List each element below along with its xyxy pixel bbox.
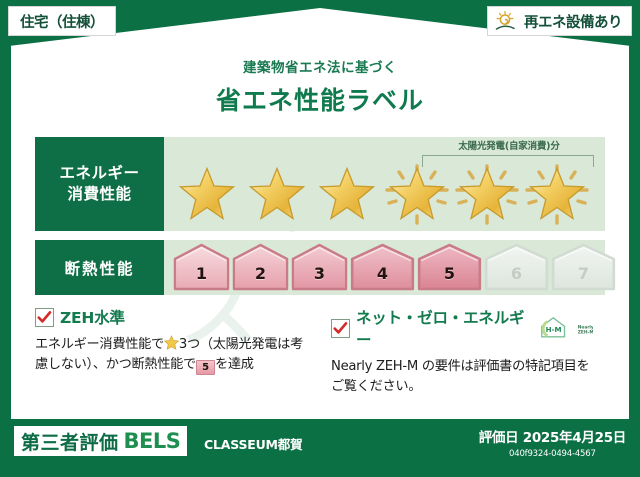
energy-performance-row: エネルギー 消費性能 太陽光発電(自家消費)分 (35, 137, 605, 231)
energy-performance-label: ハウス 住宅（住棟） 再エネ設備あり 建築物省エネ法に基づく 省エ (0, 0, 640, 477)
checkbox-checked-icon (331, 319, 350, 338)
building-type-label: 住宅（住棟） (20, 11, 104, 32)
grade-number: 7 (578, 264, 589, 291)
solar-contribution-caption: 太陽光発電(自家消費)分 (416, 138, 602, 152)
note-zeh-standard: ZEH水準 エネルギー消費性能で3つ（太陽光発電は考慮しない）、かつ断熱性能で5… (35, 306, 321, 406)
inline-grade-badge: 5 (196, 360, 215, 375)
evaluation-info: 評価日 2025年4月25日 040f9324-0494-4567 (479, 426, 626, 459)
note-zeh-text-3: を達成 (215, 357, 254, 372)
star-2 (242, 163, 312, 227)
building-type-chip: 住宅（住棟） (8, 6, 116, 36)
label-titles: 建築物省エネ法に基づく 省エネ性能ラベル (0, 56, 640, 117)
star-icon (178, 166, 236, 224)
energy-header-line1: エネルギー (59, 163, 139, 184)
star-icon (528, 166, 586, 224)
building-name: CLASSEUM都賀 (204, 434, 302, 453)
grade-number: 4 (377, 264, 388, 291)
insulation-header-label: 断熱性能 (64, 257, 134, 279)
energy-performance-header: エネルギー 消費性能 (35, 137, 164, 231)
insulation-grade-6: 6 (484, 243, 549, 291)
insulation-grade-2: 2 (232, 243, 289, 291)
note-net-zero-energy: ネット・ゼロ・エネルギー H-M Nearly ZEH-M Nearly ZEH… (321, 306, 607, 406)
energy-performance-body: 太陽光発電(自家消費)分 (164, 137, 605, 231)
bels-certification-box: 第三者評価 BELS (14, 426, 187, 456)
insulation-grade-4: 4 (350, 243, 415, 291)
label-notes: ZEH水準 エネルギー消費性能で3つ（太陽光発電は考慮しない）、かつ断熱性能で5… (35, 306, 607, 406)
insulation-performance-header: 断熱性能 (35, 240, 164, 295)
insulation-grade-1: 1 (173, 243, 230, 291)
star-6-solar (522, 163, 592, 227)
note-zeh-heading: ZEH水準 (35, 306, 307, 328)
inline-star-icon (164, 335, 179, 350)
grade-number: 5 (444, 264, 455, 291)
star-4-solar (382, 163, 452, 227)
energy-star-rating (164, 163, 605, 227)
renewable-equipment-label: 再エネ設備あり (524, 11, 622, 32)
label-footer: 第三者評価 BELS CLASSEUM都賀 評価日 2025年4月25日 040… (0, 419, 640, 477)
star-1 (172, 163, 242, 227)
insulation-performance-row: 断熱性能 1234567 (35, 240, 605, 295)
energy-header-line2: 消費性能 (67, 184, 131, 205)
star-icon (248, 166, 306, 224)
insulation-grade-7: 7 (551, 243, 616, 291)
bels-en-label: BELS (124, 429, 181, 453)
title-main: 省エネ性能ラベル (0, 81, 640, 117)
grade-number: 6 (511, 264, 522, 291)
note-zeh-title: ZEH水準 (60, 306, 125, 328)
grade-number: 1 (196, 264, 207, 291)
evaluation-date: 評価日 2025年4月25日 (479, 426, 626, 446)
note-nze-heading: ネット・ゼロ・エネルギー H-M Nearly ZEH-M (331, 306, 593, 350)
renewable-equipment-badge: 再エネ設備あり (487, 6, 632, 36)
insulation-grade-scale: 1234567 (173, 243, 616, 291)
grade-number: 3 (314, 264, 325, 291)
star-icon (388, 166, 446, 224)
note-nze-title: ネット・ゼロ・エネルギー (356, 306, 530, 350)
star-5-solar (452, 163, 522, 227)
star-3 (312, 163, 382, 227)
title-subtitle: 建築物省エネ法に基づく (0, 56, 640, 76)
bels-jp-label: 第三者評価 (21, 428, 119, 455)
star-icon (318, 166, 376, 224)
certificate-number: 040f9324-0494-4567 (479, 449, 626, 459)
grade-number: 2 (255, 264, 266, 291)
svg-text:ZEH-M: ZEH-M (578, 329, 593, 335)
solar-contribution-bracket (422, 155, 594, 167)
insulation-grade-3: 3 (291, 243, 348, 291)
checkbox-checked-icon (35, 308, 54, 327)
star-icon (458, 166, 516, 224)
insulation-performance-body: 1234567 (164, 240, 605, 295)
note-zeh-body: エネルギー消費性能で3つ（太陽光発電は考慮しない）、かつ断熱性能で5を達成 (35, 335, 307, 376)
zeh-m-logo-icon: H-M Nearly ZEH-M (538, 315, 593, 341)
sun-icon (494, 10, 520, 32)
note-zeh-text-1: エネルギー消費性能で (35, 337, 164, 352)
svg-text:Nearly: Nearly (578, 324, 593, 330)
insulation-grade-5: 5 (417, 243, 482, 291)
svg-text:H-M: H-M (546, 325, 562, 334)
note-nze-body: Nearly ZEH-M の要件は評価書の特記項目をご覧ください。 (331, 357, 593, 398)
